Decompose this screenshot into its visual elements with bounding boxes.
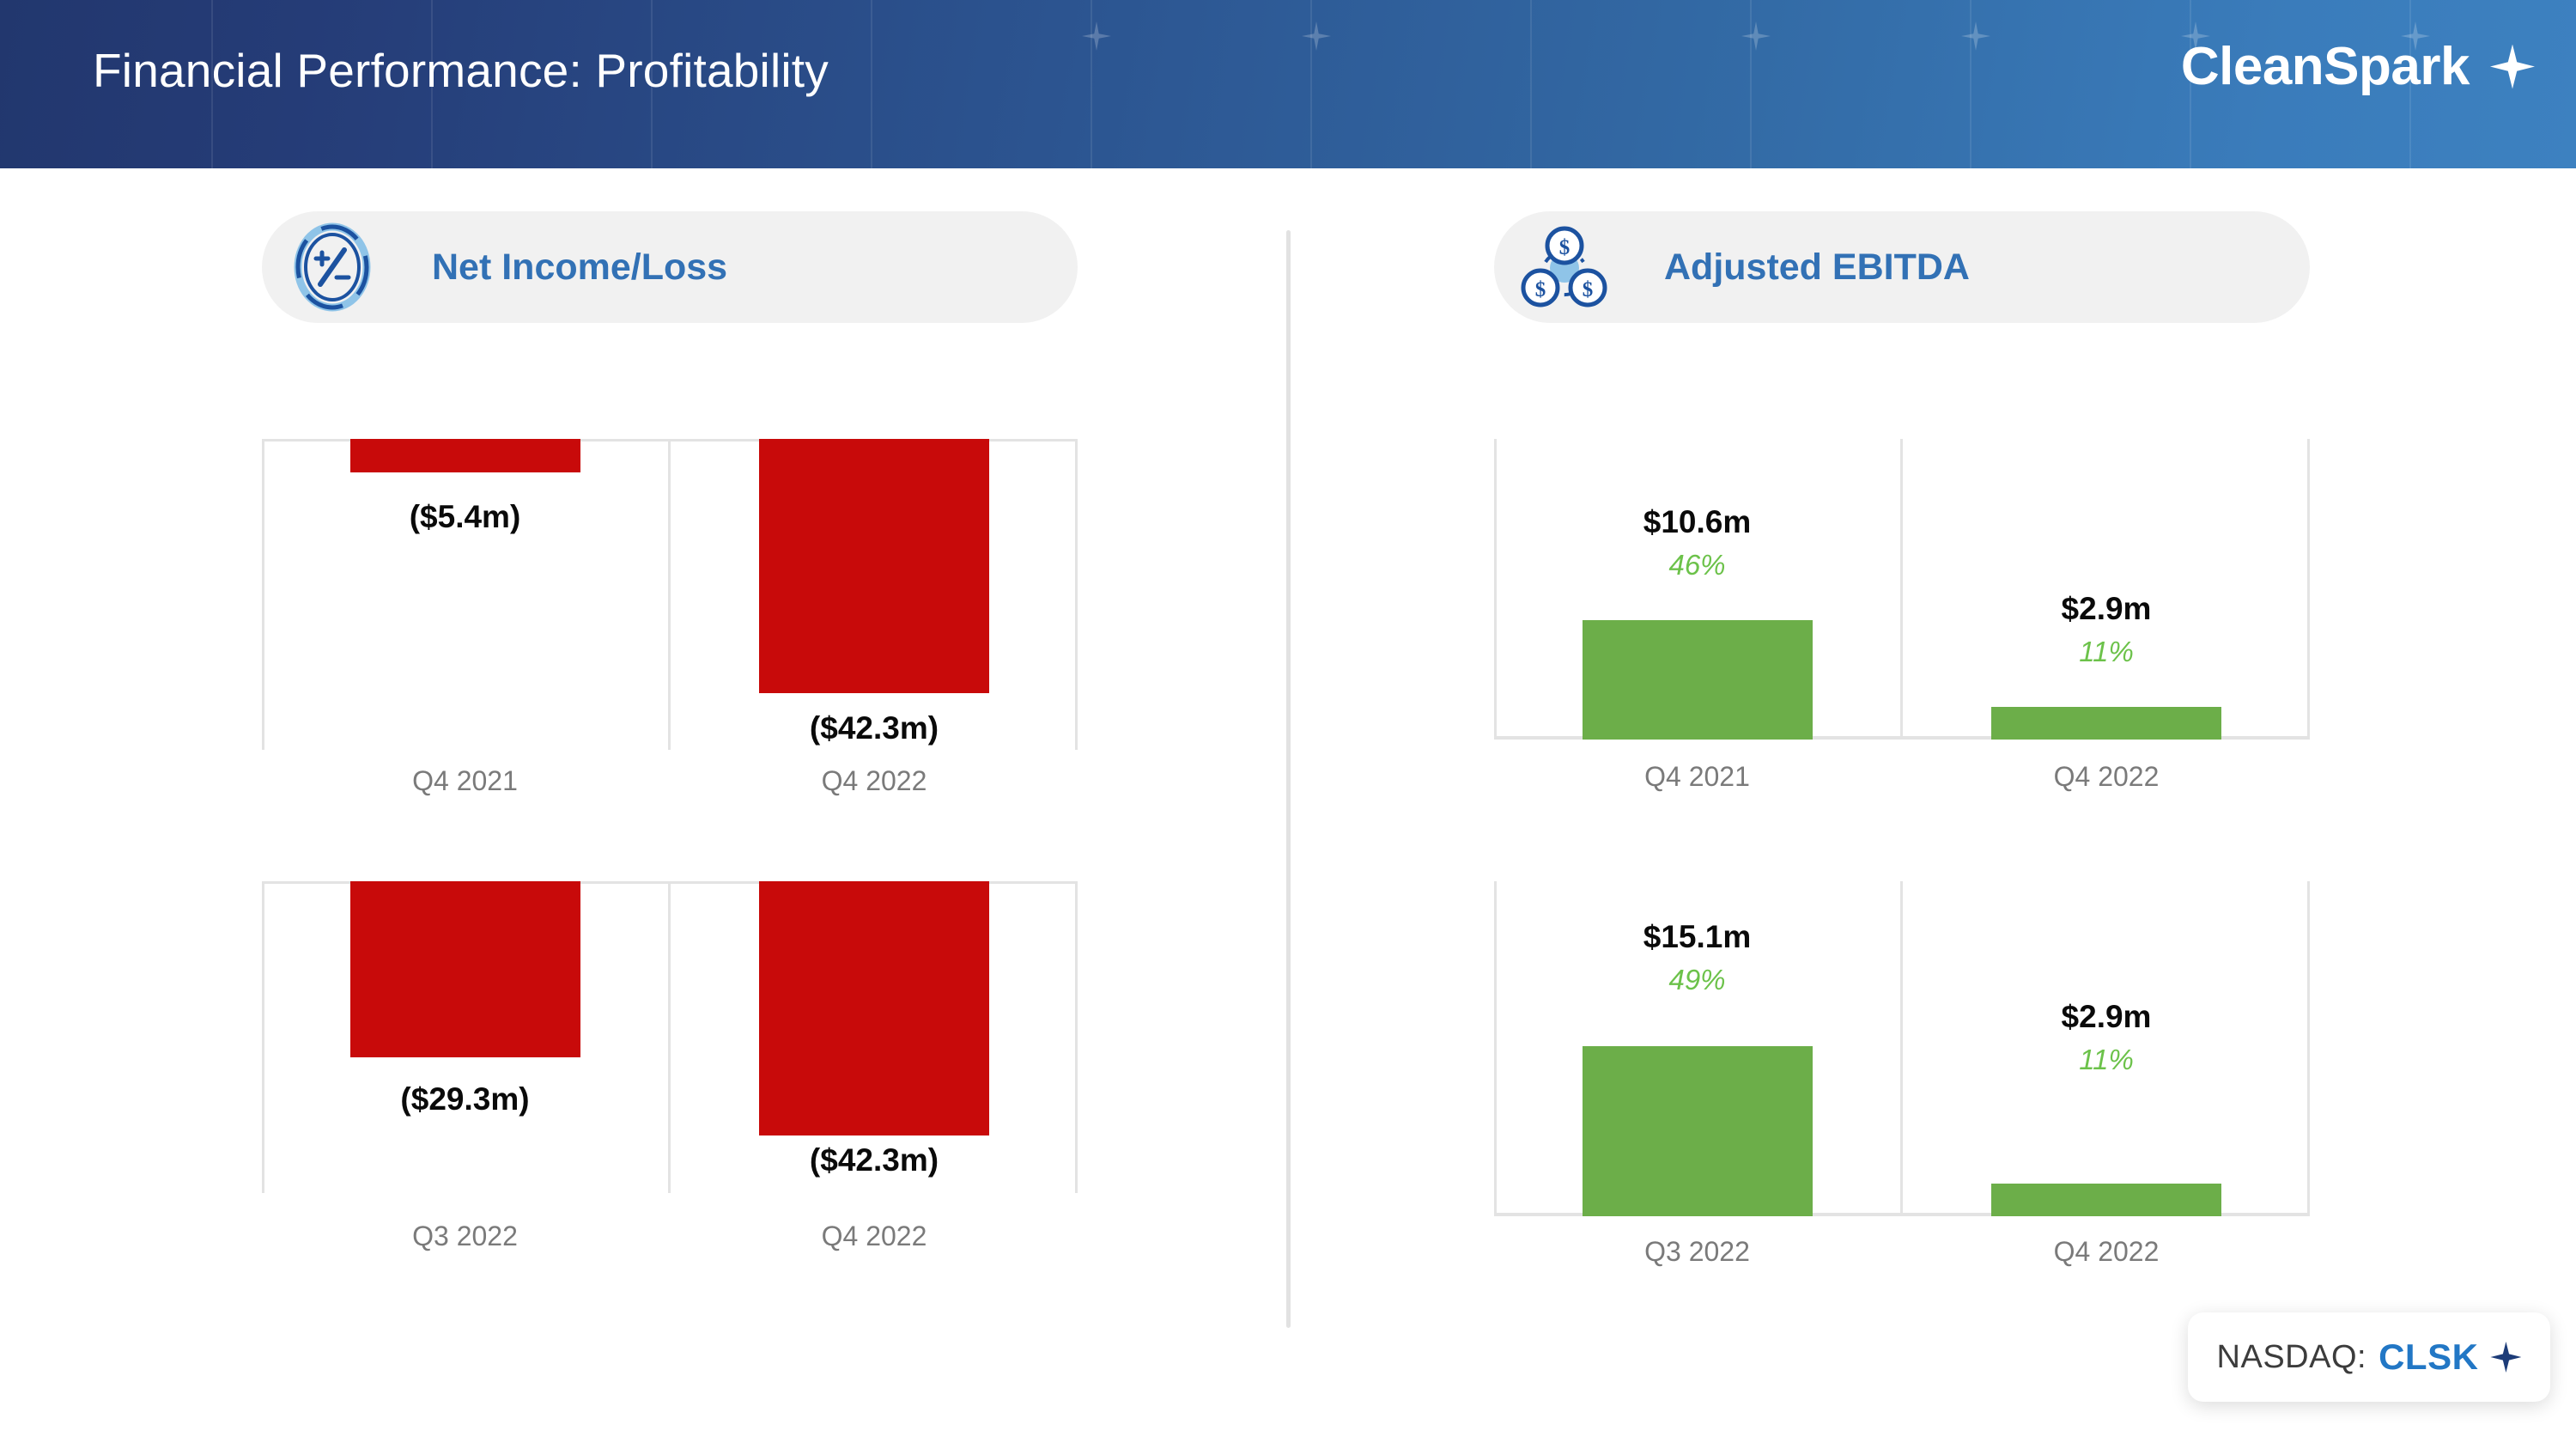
bar-positive [1583, 620, 1813, 740]
money-flow-dollars-icon: $ $ $ [1520, 222, 1609, 312]
bar-margin-label: 46% [1668, 549, 1725, 581]
svg-text:$: $ [1583, 278, 1594, 301]
page-title: Financial Performance: Profitability [93, 43, 829, 98]
bar-value-label: ($29.3m) [400, 1081, 529, 1117]
category-label: Q3 2022 [412, 1221, 518, 1252]
chart-category: $15.1m 49% Q3 2022 [1494, 881, 1900, 1216]
brand-logo: CleanSpark [2181, 36, 2535, 97]
category-label: Q4 2021 [412, 765, 518, 797]
bar-negative [350, 439, 580, 472]
category-label: Q4 2021 [1644, 761, 1750, 793]
brand-name: CleanSpark [2181, 36, 2470, 97]
bar-negative [759, 881, 989, 1135]
slide-body: Net Income/Loss ($5.4m) Q4 2021 ($42.3m)… [0, 168, 2576, 1449]
category-label: Q4 2022 [822, 1221, 927, 1252]
sparkle-icon [1302, 21, 1331, 51]
bar-value-label: $2.9m [2062, 999, 2152, 1035]
section-label-adjusted-ebitda: Adjusted EBITDA [1664, 247, 1970, 289]
bar-margin-label: 11% [2079, 1044, 2134, 1076]
category-label: Q4 2022 [822, 765, 927, 797]
chart-category: $10.6m 46% Q4 2021 [1494, 439, 1900, 740]
column-divider [1286, 230, 1291, 1328]
bar-positive [1991, 707, 2221, 740]
section-label-net-income: Net Income/Loss [432, 247, 727, 289]
chart-net-income-qoq: ($29.3m) Q3 2022 ($42.3m) Q4 2022 [262, 881, 1078, 1193]
svg-text:$: $ [1559, 236, 1571, 259]
bar-margin-label: 49% [1668, 964, 1725, 996]
chart-category: ($5.4m) Q4 2021 [262, 439, 668, 750]
nasdaq-ticker-label: CLSK [2379, 1336, 2478, 1378]
bar-value-label: ($5.4m) [410, 499, 521, 535]
nasdaq-prefix-label: NASDAQ: [2217, 1339, 2367, 1376]
slide-header: Financial Performance: Profitability Cle… [0, 0, 2576, 168]
bar-value-label: $2.9m [2062, 591, 2152, 627]
plus-minus-circle-icon [288, 222, 377, 312]
chart-category: ($29.3m) Q3 2022 [262, 881, 668, 1193]
bar-value-label: $15.1m [1643, 919, 1752, 955]
chart-category: $2.9m 11% Q4 2022 [1903, 439, 2310, 740]
section-header-net-income: Net Income/Loss [262, 211, 1078, 323]
bar-positive [1583, 1046, 1813, 1216]
section-header-adjusted-ebitda: $ $ $ Adjusted EBITDA [1494, 211, 2310, 323]
four-point-star-icon [2490, 1342, 2521, 1373]
sparkle-icon [1741, 21, 1771, 51]
chart-net-income-yoy: ($5.4m) Q4 2021 ($42.3m) Q4 2022 [262, 439, 1078, 750]
chart-category: ($42.3m) Q4 2022 [671, 439, 1078, 750]
category-label: Q4 2022 [2054, 1236, 2160, 1268]
chart-adjusted-ebitda-yoy: $10.6m 46% Q4 2021 $2.9m 11% Q4 2022 [1494, 439, 2310, 740]
bar-negative [350, 881, 580, 1057]
category-label: Q4 2022 [2054, 761, 2160, 793]
bar-positive [1991, 1184, 2221, 1216]
bar-value-label: $10.6m [1643, 504, 1752, 540]
category-label: Q3 2022 [1644, 1236, 1750, 1268]
svg-text:$: $ [1535, 278, 1546, 301]
sparkle-icon [1082, 21, 1111, 51]
nasdaq-ticker-badge: NASDAQ: CLSK [2188, 1312, 2550, 1402]
bar-value-label: ($42.3m) [810, 710, 939, 746]
sparkle-icon [1961, 21, 1990, 51]
chart-category: $2.9m 11% Q4 2022 [1903, 881, 2310, 1216]
bar-value-label: ($42.3m) [810, 1142, 939, 1178]
bar-margin-label: 11% [2079, 636, 2134, 668]
four-point-star-icon [2490, 45, 2535, 89]
chart-adjusted-ebitda-qoq: $15.1m 49% Q3 2022 $2.9m 11% Q4 2022 [1494, 881, 2310, 1216]
slide-root: Financial Performance: Profitability Cle… [0, 0, 2576, 1449]
bar-negative [759, 439, 989, 693]
chart-category: ($42.3m) Q4 2022 [671, 881, 1078, 1193]
